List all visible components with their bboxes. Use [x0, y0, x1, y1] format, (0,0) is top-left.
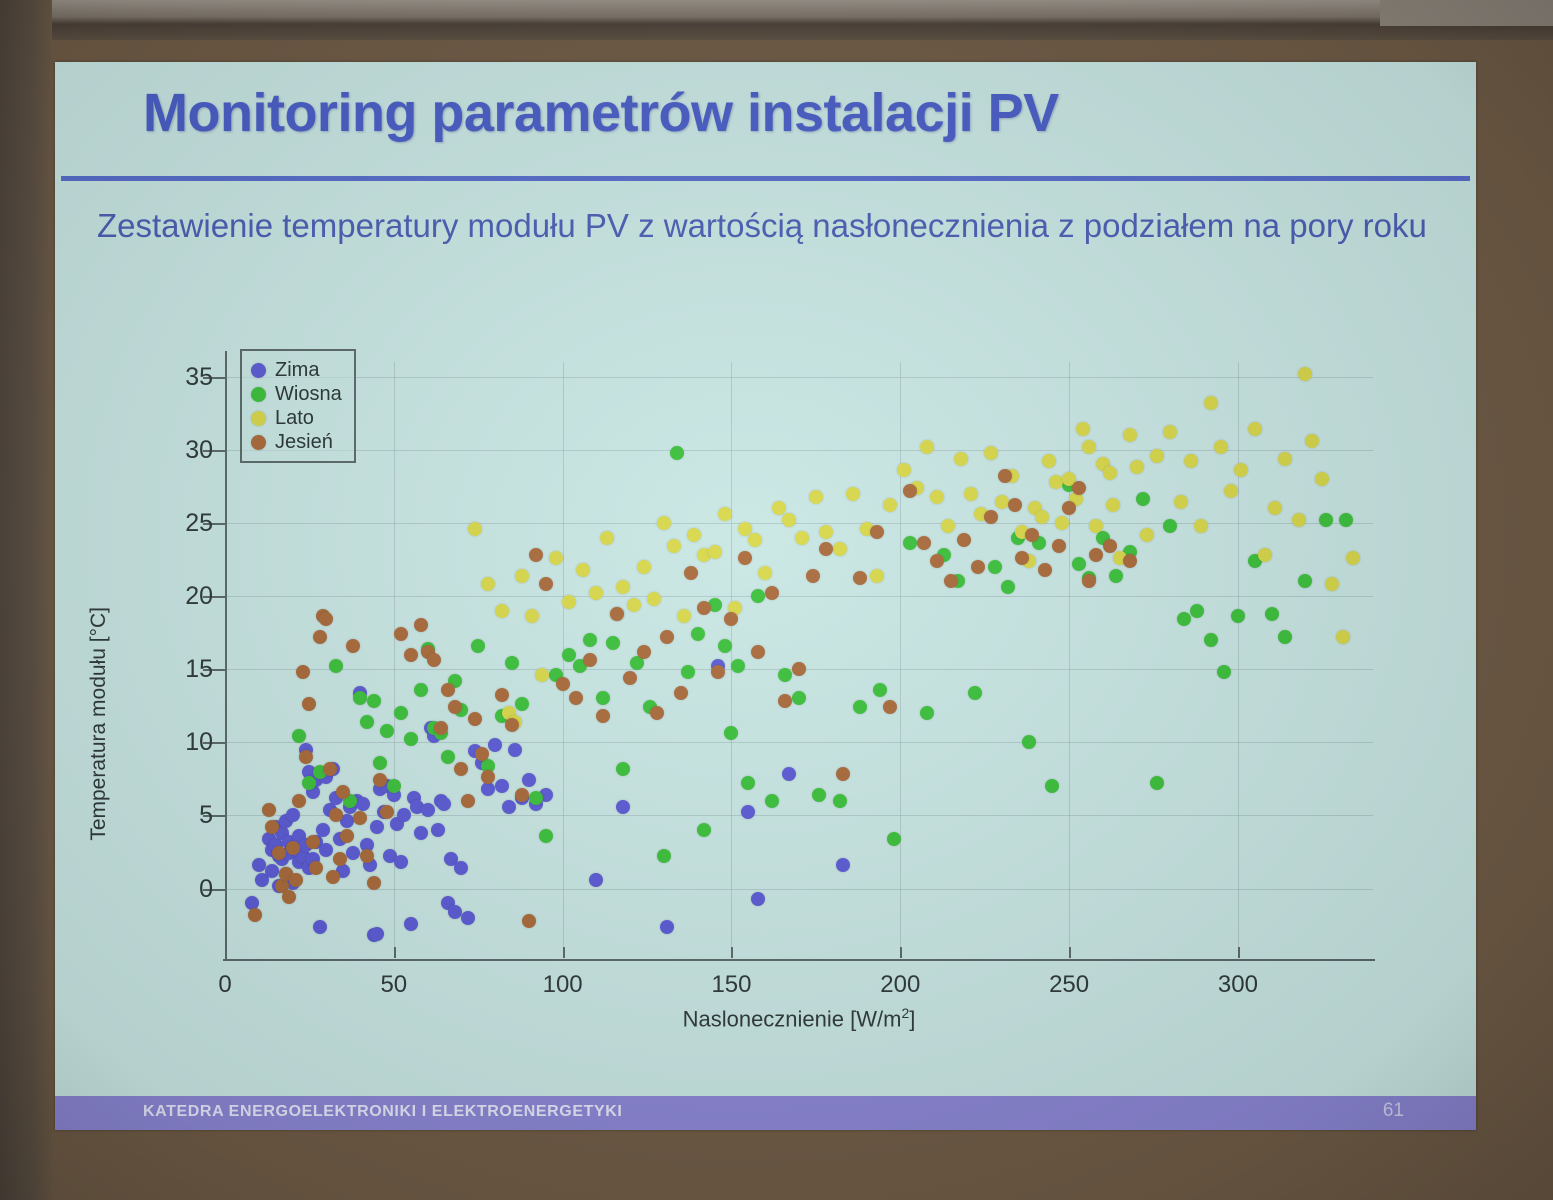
scatter-point-lato [1248, 422, 1262, 436]
scatter-point-jesień [711, 665, 725, 679]
x-axis-tick-label: 200 [860, 971, 940, 999]
scatter-point-wiosna [920, 706, 934, 720]
scatter-point-zima [421, 803, 435, 817]
x-axis-tick [1238, 947, 1240, 958]
scatter-point-wiosna [1298, 574, 1312, 588]
y-axis-tick-label: 25 [133, 509, 213, 538]
scatter-point-lato [1224, 484, 1238, 498]
scatter-point-zima [508, 743, 522, 757]
scatter-point-lato [1089, 519, 1103, 533]
y-axis-tick [213, 815, 225, 817]
scatter-point-lato [1082, 440, 1096, 454]
scatter-point-jesień [282, 890, 296, 904]
scatter-point-lato [525, 609, 539, 623]
scatter-point-lato [1204, 396, 1218, 410]
scatter-point-lato [809, 490, 823, 504]
scatter-point-wiosna [1278, 630, 1292, 644]
scatter-point-wiosna [515, 697, 529, 711]
scatter-point-lato [600, 531, 614, 545]
y-axis-tick-label: 30 [133, 436, 213, 465]
legend-item-label: Zima [275, 359, 319, 382]
scatter-point-lato [795, 531, 809, 545]
scatter-point-zima [356, 797, 370, 811]
footer-department-label: KATEDRA ENERGOELEKTRONIKI I ELEKTROENERG… [143, 1103, 622, 1121]
scatter-point-zima [782, 767, 796, 781]
y-axis-line [225, 351, 227, 959]
legend-marker-icon [251, 435, 266, 450]
scatter-point-wiosna [792, 691, 806, 705]
chart-legend: ZimaWiosnaLatoJesień [240, 349, 356, 463]
gridline-horizontal [225, 450, 1373, 451]
scatter-point-jesień [302, 697, 316, 711]
scatter-point-jesień [569, 691, 583, 705]
x-axis-tick-label: 300 [1198, 971, 1278, 999]
scatter-point-lato [1214, 440, 1228, 454]
scatter-point-jesień [637, 645, 651, 659]
scatter-point-lato [1130, 460, 1144, 474]
scatter-point-lato [1258, 548, 1272, 562]
scatter-point-jesień [971, 560, 985, 574]
scatter-point-wiosna [539, 829, 553, 843]
scatter-point-zima [414, 826, 428, 840]
y-axis-tick [213, 450, 225, 452]
scatter-point-jesień [515, 788, 529, 802]
y-axis-tick-label: 0 [133, 875, 213, 904]
scatter-point-lato [1049, 475, 1063, 489]
y-axis-tick-label: 10 [133, 728, 213, 757]
scatter-point-zima [502, 800, 516, 814]
legend-marker-icon [251, 411, 266, 426]
legend-marker-icon [251, 363, 266, 378]
scatter-point-jesień [286, 841, 300, 855]
scatter-point-zima [319, 843, 333, 857]
scatter-point-zima [836, 858, 850, 872]
scatter-point-zima [495, 779, 509, 793]
scatter-point-lato [481, 577, 495, 591]
scatter-point-wiosna [1150, 776, 1164, 790]
legend-item-label: Lato [275, 407, 314, 430]
page-title: Monitoring parametrów instalacji PV [143, 82, 1443, 144]
y-axis-tick-label: 35 [133, 363, 213, 392]
scatter-point-zima [346, 846, 360, 860]
scatter-point-wiosna [596, 691, 610, 705]
scatter-point-lato [995, 495, 1009, 509]
scatter-point-lato [1268, 501, 1282, 515]
scatter-point-zima [741, 805, 755, 819]
scatter-point-wiosna [968, 686, 982, 700]
scatter-point-zima [370, 927, 384, 941]
scatter-point-lato [930, 490, 944, 504]
scatter-point-lato [1315, 472, 1329, 486]
scatter-point-wiosna [606, 636, 620, 650]
plot-area: 05101520253035050100150200250300 [225, 362, 1373, 947]
scatter-point-lato [687, 528, 701, 542]
x-axis-tick [394, 947, 396, 958]
x-axis-tick [731, 947, 733, 958]
x-axis-tick-label: 100 [523, 971, 603, 999]
legend-marker-icon [251, 387, 266, 402]
scatter-point-wiosna [1217, 665, 1231, 679]
x-axis-title-base: Naslonecznienie [W/m [683, 1006, 902, 1031]
scatter-point-jesień [434, 721, 448, 735]
scatter-point-jesień [468, 712, 482, 726]
scatter-point-wiosna [1045, 779, 1059, 793]
scatter-point-jesień [262, 803, 276, 817]
scatter-point-jesień [806, 569, 820, 583]
scatter-point-lato [657, 516, 671, 530]
scatter-point-zima [265, 864, 279, 878]
scatter-point-jesień [724, 612, 738, 626]
scatter-point-lato [870, 569, 884, 583]
scatter-point-jesień [522, 914, 536, 928]
scatter-point-lato [984, 446, 998, 460]
scatter-point-wiosna [1339, 513, 1353, 527]
scatter-point-lato [677, 609, 691, 623]
y-axis-tick [213, 669, 225, 671]
scatter-point-jesień [448, 700, 462, 714]
scatter-point-wiosna [1177, 612, 1191, 626]
scatter-point-jesień [296, 665, 310, 679]
scatter-point-zima [461, 911, 475, 925]
scatter-point-lato [1055, 516, 1069, 530]
scatter-point-jesień [1123, 554, 1137, 568]
scatter-point-jesień [454, 762, 468, 776]
scatter-point-wiosna [751, 589, 765, 603]
x-axis-tick [900, 947, 902, 958]
scatter-point-wiosna [1319, 513, 1333, 527]
scatter-point-lato [920, 440, 934, 454]
scatter-point-zima [454, 861, 468, 875]
scatter-point-jesień [441, 683, 455, 697]
scatter-point-wiosna [1231, 609, 1245, 623]
scatter-point-jesień [1025, 528, 1039, 542]
scatter-point-jesień [903, 484, 917, 498]
scatter-point-jesień [1103, 539, 1117, 553]
x-axis-tick [1069, 947, 1071, 958]
scatter-point-jesień [292, 794, 306, 808]
scatter-point-jesień [957, 533, 971, 547]
x-axis-title: Naslonecznienie [W/m2] [225, 1005, 1373, 1032]
scatter-point-lato [964, 487, 978, 501]
scatter-point-wiosna [724, 726, 738, 740]
scatter-point-zima [481, 782, 495, 796]
scatter-point-jesień [1038, 563, 1052, 577]
scatter-point-jesień [539, 577, 553, 591]
scatter-point-wiosna [731, 659, 745, 673]
scatter-point-wiosna [414, 683, 428, 697]
scatter-point-jesień [319, 612, 333, 626]
scatter-point-wiosna [471, 639, 485, 653]
x-axis-tick-label: 0 [185, 971, 265, 999]
scatter-point-zima [431, 823, 445, 837]
scatter-point-wiosna [988, 560, 1002, 574]
scatter-point-jesień [650, 706, 664, 720]
scatter-point-wiosna [887, 832, 901, 846]
scatter-point-jesień [394, 627, 408, 641]
scatter-point-jesień [596, 709, 610, 723]
slide-page-number: 61 [1383, 1100, 1404, 1122]
scatter-point-wiosna [387, 779, 401, 793]
scatter-point-lato [748, 533, 762, 547]
scatter-point-jesień [1015, 551, 1029, 565]
scatter-point-jesień [306, 835, 320, 849]
scatter-point-lato [549, 551, 563, 565]
scatter-point-jesień [404, 648, 418, 662]
scatter-point-wiosna [741, 776, 755, 790]
scatter-point-jesień [333, 852, 347, 866]
scatter-point-jesień [248, 908, 262, 922]
gridline-horizontal [225, 377, 1373, 378]
scatter-point-jesień [738, 551, 752, 565]
scatter-point-wiosna [353, 691, 367, 705]
x-axis-tick-label: 150 [691, 971, 771, 999]
y-axis-tick-label: 20 [133, 582, 213, 611]
scatter-point-jesień [427, 653, 441, 667]
scatter-point-lato [1076, 422, 1090, 436]
scatter-point-lato [1103, 466, 1117, 480]
wall-top-molding [0, 0, 1553, 40]
scatter-point-jesień [836, 767, 850, 781]
gridline-vertical [1238, 362, 1239, 947]
scatter-point-lato [637, 560, 651, 574]
scatter-point-wiosna [583, 633, 597, 647]
scatter-point-lato [1325, 577, 1339, 591]
scatter-point-lato [941, 519, 955, 533]
scatter-point-zima [448, 905, 462, 919]
scatter-point-zima [589, 873, 603, 887]
scatter-point-jesień [289, 873, 303, 887]
scatter-point-lato [1336, 630, 1350, 644]
scatter-point-jesień [930, 554, 944, 568]
scatter-point-lato [1184, 454, 1198, 468]
scatter-point-wiosna [380, 724, 394, 738]
scatter-point-wiosna [1163, 519, 1177, 533]
scatter-point-wiosna [812, 788, 826, 802]
scatter-point-wiosna [1001, 580, 1015, 594]
scatter-chart: 05101520253035050100150200250300 Tempera… [95, 337, 1445, 1037]
scatter-point-lato [1042, 454, 1056, 468]
scatter-point-jesień [883, 700, 897, 714]
scatter-point-lato [1234, 463, 1248, 477]
scatter-point-wiosna [670, 446, 684, 460]
wall-left-edge [0, 0, 52, 1200]
scatter-point-lato [1150, 449, 1164, 463]
scatter-point-wiosna [367, 694, 381, 708]
scatter-point-lato [468, 522, 482, 536]
scatter-point-zima [660, 920, 674, 934]
gridline-horizontal [225, 742, 1373, 743]
gridline-vertical [900, 362, 901, 947]
scatter-point-wiosna [329, 659, 343, 673]
scatter-point-lato [833, 542, 847, 556]
scatter-point-wiosna [562, 648, 576, 662]
scatter-point-lato [1278, 452, 1292, 466]
scatter-point-jesień [1072, 481, 1086, 495]
scatter-point-wiosna [1072, 557, 1086, 571]
gridline-horizontal [225, 596, 1373, 597]
scatter-point-lato [667, 539, 681, 553]
y-axis-tick [213, 523, 225, 525]
scatter-point-lato [616, 580, 630, 594]
scatter-point-jesień [481, 770, 495, 784]
y-axis-tick [213, 889, 225, 891]
scatter-point-wiosna [778, 668, 792, 682]
y-axis-tick [213, 377, 225, 379]
scatter-point-zima [370, 820, 384, 834]
scatter-point-lato [846, 487, 860, 501]
scatter-point-zima [397, 808, 411, 822]
y-axis-tick [213, 596, 225, 598]
scatter-point-jesień [313, 630, 327, 644]
scatter-point-wiosna [697, 823, 711, 837]
scatter-point-jesień [751, 645, 765, 659]
scatter-point-zima [437, 797, 451, 811]
scatter-point-lato [708, 545, 722, 559]
legend-item-label: Wiosna [275, 383, 342, 406]
scatter-point-wiosna [833, 794, 847, 808]
scatter-point-jesień [414, 618, 428, 632]
scatter-point-zima [751, 892, 765, 906]
scatter-point-lato [589, 586, 603, 600]
scatter-point-lato [562, 595, 576, 609]
wall-top-right-patch [1380, 0, 1553, 26]
scatter-point-lato [535, 668, 549, 682]
x-axis-title-tail: ] [909, 1006, 915, 1031]
scatter-point-zima [316, 823, 330, 837]
scatter-point-zima [488, 738, 502, 752]
scatter-point-jesień [475, 747, 489, 761]
scatter-point-lato [782, 513, 796, 527]
title-divider [61, 176, 1470, 181]
scatter-point-wiosna [360, 715, 374, 729]
scatter-point-wiosna [394, 706, 408, 720]
scatter-point-jesień [819, 542, 833, 556]
y-axis-tick-label: 5 [133, 801, 213, 830]
scatter-point-lato [1346, 551, 1360, 565]
scatter-point-lato [819, 525, 833, 539]
scatter-point-jesień [529, 548, 543, 562]
scatter-point-jesień [583, 653, 597, 667]
scatter-point-lato [647, 592, 661, 606]
scatter-point-jesień [346, 639, 360, 653]
scatter-point-jesień [684, 566, 698, 580]
scatter-point-wiosna [1109, 569, 1123, 583]
scatter-point-jesień [495, 688, 509, 702]
scatter-point-lato [1194, 519, 1208, 533]
scatter-point-jesień [674, 686, 688, 700]
scatter-point-wiosna [441, 750, 455, 764]
scatter-point-wiosna [1022, 735, 1036, 749]
scatter-point-jesień [340, 829, 354, 843]
scatter-point-lato [954, 452, 968, 466]
legend-item-zima[interactable]: Zima [251, 358, 342, 382]
scatter-point-jesień [1008, 498, 1022, 512]
scatter-point-wiosna [691, 627, 705, 641]
scatter-point-jesień [323, 762, 337, 776]
scatter-point-lato [1140, 528, 1154, 542]
scatter-point-lato [1106, 498, 1120, 512]
scatter-point-lato [627, 598, 641, 612]
scatter-point-jesień [1052, 539, 1066, 553]
x-axis-tick-label: 250 [1029, 971, 1109, 999]
scatter-point-wiosna [873, 683, 887, 697]
scatter-point-wiosna [657, 849, 671, 863]
scatter-point-wiosna [718, 639, 732, 653]
y-axis-tick [213, 742, 225, 744]
scatter-point-wiosna [853, 700, 867, 714]
scatter-point-lato [515, 569, 529, 583]
scatter-point-jesień [917, 536, 931, 550]
scatter-point-lato [897, 463, 911, 477]
slide-footer-bar: KATEDRA ENERGOELEKTRONIKI I ELEKTROENERG… [55, 1096, 1476, 1130]
scatter-point-jesień [1062, 501, 1076, 515]
scatter-point-jesień [505, 718, 519, 732]
scatter-point-wiosna [1265, 607, 1279, 621]
x-axis-tick-label: 50 [354, 971, 434, 999]
scatter-point-lato [576, 563, 590, 577]
x-axis-line [223, 959, 1375, 961]
scatter-point-jesień [299, 750, 313, 764]
scatter-point-jesień [326, 870, 340, 884]
scatter-point-lato [772, 501, 786, 515]
scatter-point-jesień [353, 811, 367, 825]
scatter-point-zima [286, 808, 300, 822]
scatter-point-jesień [1082, 574, 1096, 588]
scatter-point-wiosna [404, 732, 418, 746]
y-axis-title: Temperatura modułu [°C] [87, 607, 111, 841]
scatter-point-jesień [998, 469, 1012, 483]
y-axis-tick-label: 15 [133, 655, 213, 684]
x-axis-tick [563, 947, 565, 958]
scatter-point-zima [313, 920, 327, 934]
scatter-point-lato [718, 507, 732, 521]
scatter-point-lato [1292, 513, 1306, 527]
legend-item-jesień[interactable]: Jesień [251, 430, 342, 454]
scatter-point-jesień [660, 630, 674, 644]
scatter-point-jesień [870, 525, 884, 539]
gridline-vertical [1069, 362, 1070, 947]
scatter-point-wiosna [616, 762, 630, 776]
scatter-point-lato [1305, 434, 1319, 448]
scatter-point-jesień [309, 861, 323, 875]
scatter-point-lato [1174, 495, 1188, 509]
legend-item-lato[interactable]: Lato [251, 406, 342, 430]
scatter-point-lato [1163, 425, 1177, 439]
gridline-vertical [731, 362, 732, 947]
scatter-point-zima [394, 855, 408, 869]
scatter-point-jesień [778, 694, 792, 708]
scatter-point-wiosna [373, 756, 387, 770]
scatter-point-jesień [367, 876, 381, 890]
scatter-point-jesień [461, 794, 475, 808]
legend-item-label: Jesień [275, 431, 333, 454]
scatter-point-wiosna [1190, 604, 1204, 618]
scatter-point-lato [1298, 367, 1312, 381]
scatter-point-wiosna [903, 536, 917, 550]
scatter-point-lato [1035, 510, 1049, 524]
scatter-point-wiosna [765, 794, 779, 808]
scatter-point-jesień [697, 601, 711, 615]
scatter-point-jesień [792, 662, 806, 676]
scatter-point-zima [522, 773, 536, 787]
scatter-point-lato [1123, 428, 1137, 442]
scatter-point-jesień [610, 607, 624, 621]
scatter-point-lato [495, 604, 509, 618]
legend-item-wiosna[interactable]: Wiosna [251, 382, 342, 406]
scatter-point-jesień [765, 586, 779, 600]
scatter-point-lato [883, 498, 897, 512]
slide-subtitle: Zestawienie temperatury modułu PV z wart… [97, 202, 1427, 249]
